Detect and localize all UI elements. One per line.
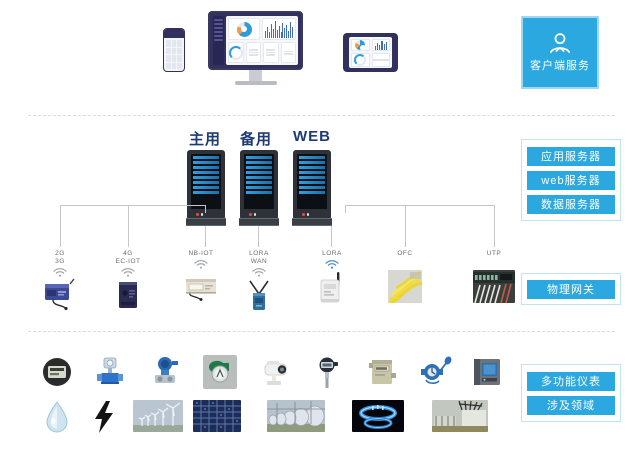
phone-header-bar <box>164 29 184 38</box>
solar-panel-image[interactable] <box>193 400 241 432</box>
rack-led-red <box>249 213 252 216</box>
drop-line-ofc <box>405 205 406 247</box>
rack-plinth <box>186 218 226 226</box>
server-rack-primary[interactable] <box>187 150 225 220</box>
gateway-2g3g-icon <box>39 278 81 311</box>
monitor-stand-base <box>235 81 277 85</box>
monitor-screen <box>208 11 303 70</box>
wifi-signal-icon <box>252 268 266 277</box>
tablet-gauge-card <box>351 53 370 67</box>
dashboard-list-card <box>246 42 262 63</box>
gas-flame-image[interactable] <box>352 400 404 432</box>
rack-screen <box>244 154 274 209</box>
electromagnetic-flow-meter-icon[interactable] <box>93 355 127 389</box>
rack-screen <box>297 154 327 209</box>
digital-display-meter-icon[interactable] <box>40 355 74 389</box>
rack-led-white <box>307 213 310 216</box>
wifi-signal-icon <box>325 260 339 269</box>
gas-meter-icon[interactable] <box>365 355 399 389</box>
gateway-node-lorawan[interactable]: LORA WAN <box>224 250 294 311</box>
dashboard-misc-card <box>281 42 297 63</box>
architecture-diagram-canvas: 客户端服务 主用 备用 WEB 应用服务 <box>0 0 643 456</box>
drop-line-lorawan <box>258 226 259 247</box>
server-rack-web[interactable] <box>293 150 331 220</box>
dashboard-gauge-card <box>228 42 244 63</box>
panel-physical-gateway[interactable]: 物理网关 <box>521 273 621 305</box>
client-device-tablet[interactable] <box>343 33 398 72</box>
water-drop-icon[interactable] <box>44 401 70 433</box>
gateway-label-ofc: OFC <box>370 250 440 258</box>
drop-line-utp <box>494 205 495 247</box>
dashboard-sidebar <box>213 16 224 65</box>
rack-screen <box>191 154 221 209</box>
gateway-node-ofc[interactable]: OFC <box>370 250 440 303</box>
panel-client-service[interactable]: 客户端服务 <box>521 16 599 89</box>
electrical-substation-image[interactable] <box>432 400 488 432</box>
drop-line-lora <box>331 226 332 247</box>
gateway-node-utp[interactable]: UTP <box>459 250 529 303</box>
chip-application-server[interactable]: 应用服务器 <box>527 147 615 166</box>
rack-label-primary: 主用 <box>189 128 221 149</box>
rotary-water-meter-icon[interactable] <box>418 355 452 389</box>
person-icon <box>547 32 573 54</box>
tablet-bar-chart <box>372 39 391 51</box>
monitor-stand-neck <box>249 70 262 81</box>
riser-line-right <box>345 205 346 213</box>
gateway-label-utp: UTP <box>459 250 529 258</box>
tablet-body <box>343 33 398 72</box>
divider-client-server <box>28 115 615 116</box>
gateway-label-4g: 4G EC-IOT <box>93 250 163 266</box>
gateway-lora-icon <box>311 270 353 303</box>
drop-line-nbiot <box>205 226 206 247</box>
gateway-4g-icon <box>107 278 149 311</box>
gateway-node-4g[interactable]: 4G EC-IOT <box>93 250 163 311</box>
server-rack-backup[interactable] <box>240 150 278 220</box>
divider-gateway-device <box>28 331 615 332</box>
gateway-node-lora[interactable]: LORA <box>297 250 367 303</box>
tablet-donut-chart <box>351 39 370 51</box>
dashboard-donut-chart <box>228 18 260 40</box>
client-device-phone[interactable] <box>163 28 185 72</box>
wifi-signal-icon <box>121 268 135 277</box>
wifi-signal-icon <box>194 260 208 269</box>
client-device-desktop-monitor[interactable] <box>208 11 303 89</box>
drop-line-4g <box>128 205 129 247</box>
gateway-label-lorawan: LORA WAN <box>224 250 294 266</box>
tablet-screen <box>349 37 392 68</box>
chip-data-server[interactable]: 数据服务器 <box>527 195 615 214</box>
lightning-bolt-icon[interactable] <box>92 401 116 433</box>
chip-web-server[interactable]: web服务器 <box>527 171 615 190</box>
panel-power-meter-icon[interactable] <box>470 355 504 389</box>
gateway-nbiot-icon <box>180 270 222 303</box>
dashboard-bar-chart <box>262 18 296 40</box>
optical-fiber-cable-icon <box>384 270 426 303</box>
gateway-lorawan-icon <box>238 278 280 311</box>
oil-tank-farm-image[interactable] <box>267 400 325 432</box>
drop-line-2g3g <box>60 205 61 247</box>
bus-line-right <box>345 205 495 206</box>
water-meter-icon[interactable] <box>203 355 237 389</box>
chip-physical-gateway[interactable]: 物理网关 <box>527 280 615 299</box>
tablet-list-card <box>372 53 391 67</box>
rack-plinth <box>292 218 332 226</box>
panel-server-types[interactable]: 应用服务器 web服务器 数据服务器 <box>521 139 621 221</box>
dashboard-stat-card <box>263 42 279 63</box>
temperature-transmitter-icon[interactable] <box>310 355 344 389</box>
wifi-signal-icon <box>53 268 67 277</box>
chip-multifunction-meter[interactable]: 多功能仪表 <box>527 372 615 391</box>
rack-label-web: WEB <box>293 128 331 145</box>
gateway-label-lora: LORA <box>297 250 367 258</box>
phone-keypad <box>164 38 184 71</box>
rack-led-red <box>196 213 199 216</box>
panel-client-service-label: 客户端服务 <box>530 57 590 73</box>
phone-body <box>163 28 185 72</box>
utp-patch-panel-icon <box>473 270 515 303</box>
rack-led-white <box>201 213 204 216</box>
gateway-label-2g3g: 2G 3G <box>25 250 95 266</box>
panel-device-categories[interactable]: 多功能仪表 涉及领域 <box>521 364 621 422</box>
rack-plinth <box>239 218 279 226</box>
rack-led-white <box>254 213 257 216</box>
rack-label-backup: 备用 <box>240 128 272 149</box>
dashboard-content <box>226 16 298 65</box>
rack-led-red <box>302 213 305 216</box>
differential-pressure-transmitter-icon[interactable] <box>148 355 182 389</box>
wind-farm-image[interactable] <box>133 400 183 432</box>
bus-line-left <box>60 205 205 206</box>
gateway-node-2g3g[interactable]: 2G 3G <box>25 250 95 311</box>
chip-application-fields[interactable]: 涉及领域 <box>527 396 615 415</box>
riser-line-left <box>205 205 206 213</box>
surveillance-camera-icon[interactable] <box>258 355 292 389</box>
